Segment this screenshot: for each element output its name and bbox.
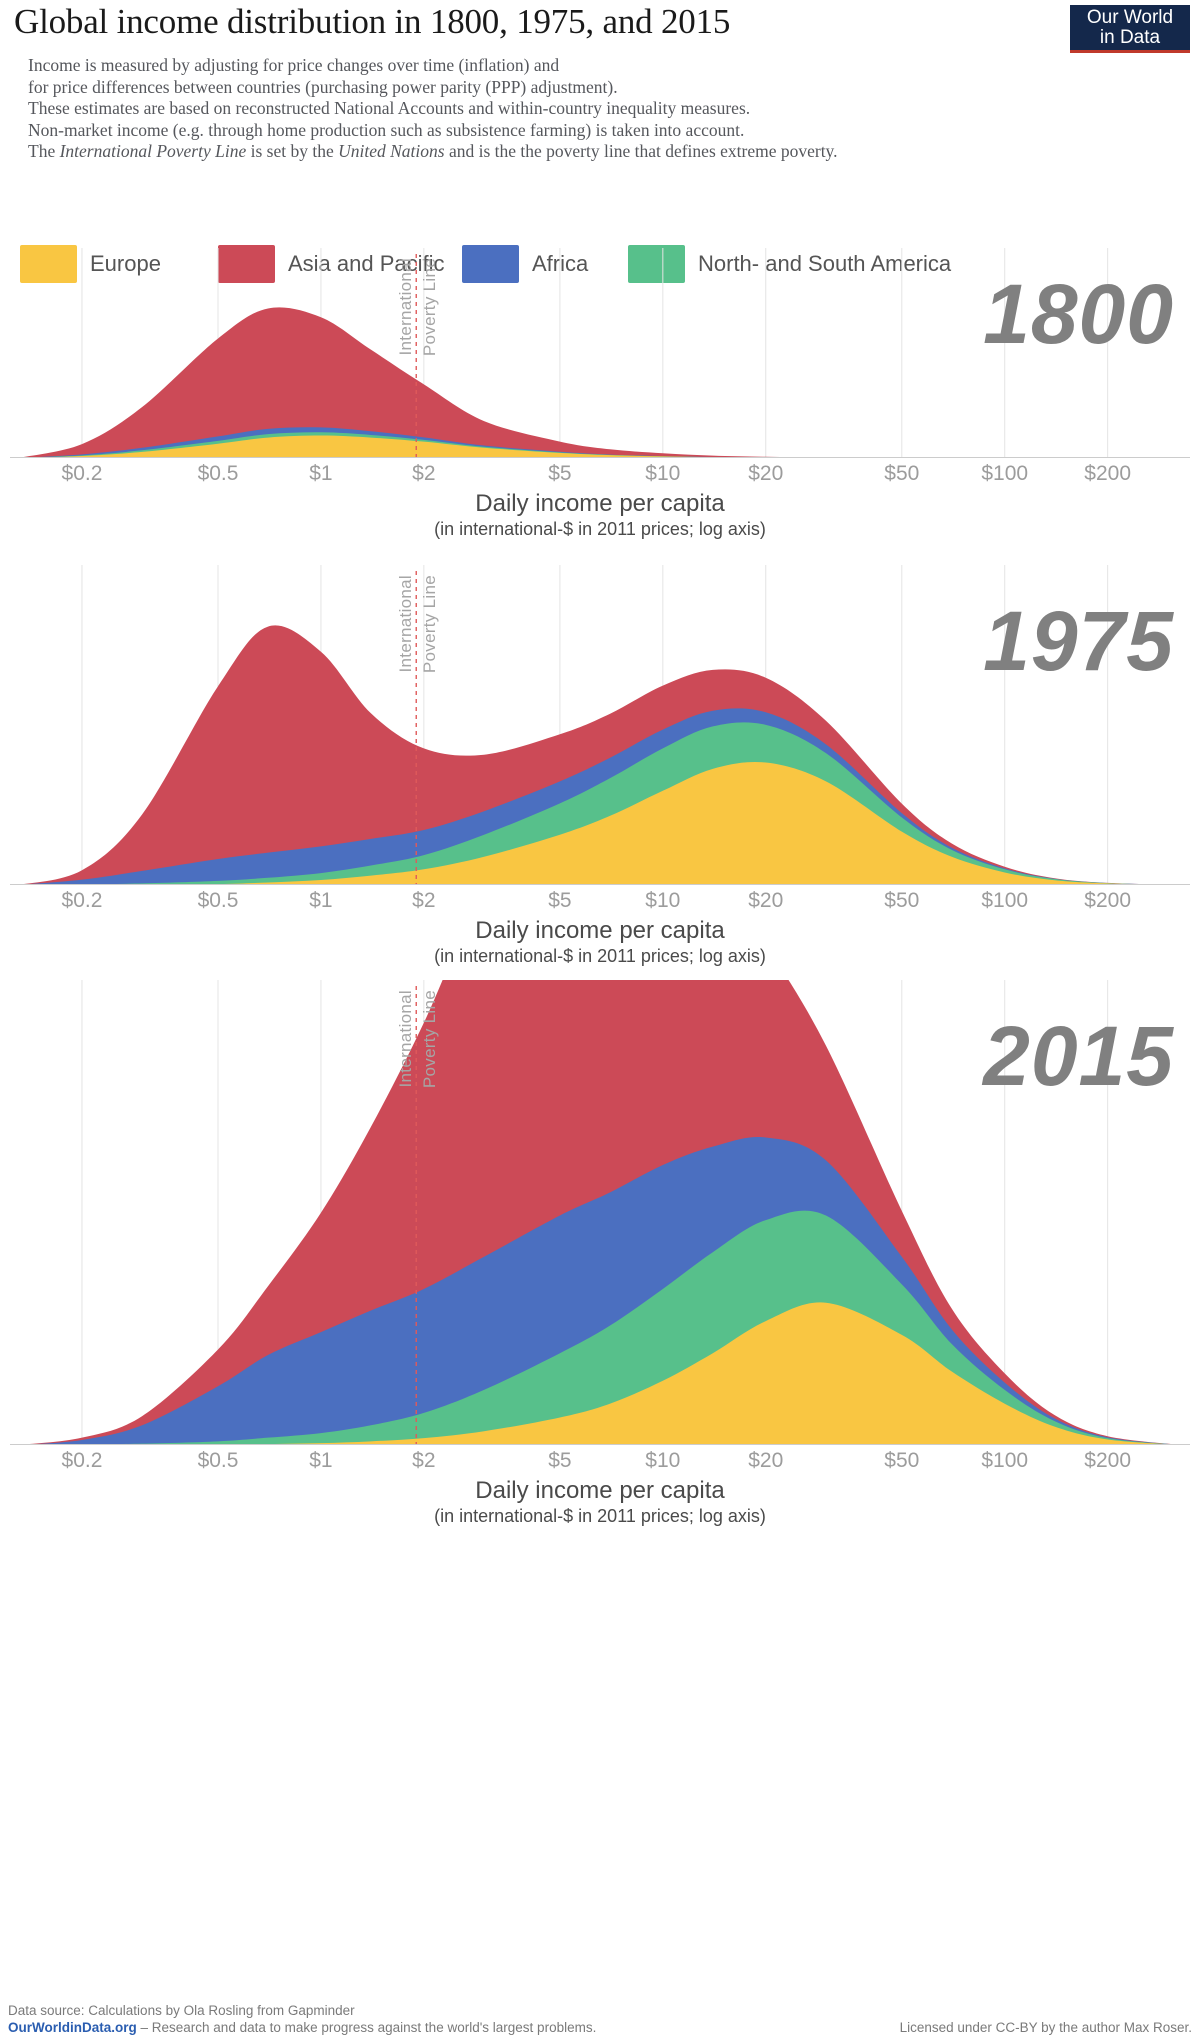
x-axis-title: Daily income per capita(in international… <box>0 917 1200 967</box>
owid-logo[interactable]: Our World in Data <box>1070 5 1190 53</box>
poverty-line-label-international: International <box>396 258 416 355</box>
chart-panel-2015: InternationalPoverty Line2015$0.2$0.5$1$… <box>0 980 1200 1527</box>
footer-license: Licensed under CC-BY by the author Max R… <box>900 2019 1192 2036</box>
x-axis-tick-1: $1 <box>309 1449 332 1473</box>
panel-year-label: 1800 <box>983 266 1174 363</box>
x-axis-tick-0.2: $0.2 <box>62 462 103 486</box>
poverty-line-label-poverty: Poverty Line <box>420 258 440 356</box>
subtitle-line-4: Non-market income (e.g. through home pro… <box>28 120 1190 142</box>
x-axis-tick-200: $200 <box>1084 1449 1131 1473</box>
x-axis-tick-20: $20 <box>748 889 783 913</box>
x-axis-title-sub: (in international-$ in 2011 prices; log … <box>0 1506 1200 1527</box>
page-title: Global income distribution in 1800, 1975… <box>14 4 730 41</box>
subtitle-line-5: The International Poverty Line is set by… <box>28 141 1190 163</box>
chart-panel-1800: InternationalPoverty Line1800$0.2$0.5$1$… <box>0 248 1200 540</box>
x-axis-tick-5: $5 <box>548 462 571 486</box>
page-footer: Data source: Calculations by Ola Rosling… <box>8 2002 1192 2036</box>
poverty-line-label-international: International <box>396 575 416 672</box>
chart-panel-1975: InternationalPoverty Line1975$0.2$0.5$1$… <box>0 565 1200 967</box>
x-axis-tick-20: $20 <box>748 1449 783 1473</box>
x-axis-tick-2: $2 <box>412 889 435 913</box>
x-axis-title-sub: (in international-$ in 2011 prices; log … <box>0 946 1200 967</box>
subtitle-5-part2: is set by the <box>246 141 338 161</box>
poverty-line-label-poverty: Poverty Line <box>420 990 440 1088</box>
x-axis-tick-2: $2 <box>412 462 435 486</box>
x-axis-title: Daily income per capita(in international… <box>0 1477 1200 1527</box>
subtitle-5-em2: United Nations <box>338 141 444 161</box>
x-axis-tick-0.5: $0.5 <box>198 1449 239 1473</box>
x-axis-tick-100: $100 <box>981 889 1028 913</box>
owid-site-link[interactable]: OurWorldinData.org <box>8 2020 137 2035</box>
x-axis-title-sub: (in international-$ in 2011 prices; log … <box>0 519 1200 540</box>
footer-bottom-row: OurWorldinData.org – Research and data t… <box>8 2019 1192 2036</box>
x-axis-title-main: Daily income per capita <box>0 490 1200 518</box>
x-axis-tick-200: $200 <box>1084 462 1131 486</box>
x-axis-tick-0.2: $0.2 <box>62 1449 103 1473</box>
x-axis-tick-10: $10 <box>645 462 680 486</box>
x-axis-title: Daily income per capita(in international… <box>0 490 1200 540</box>
subtitle-5-part3: and is the the poverty line that defines… <box>445 141 838 161</box>
footer-tagline: – Research and data to make progress aga… <box>137 2020 597 2035</box>
panel-year-label: 1975 <box>983 593 1174 690</box>
subtitle-5-part1: The <box>28 141 60 161</box>
x-axis-tick-20: $20 <box>748 462 783 486</box>
x-axis-tick-1: $1 <box>309 462 332 486</box>
x-axis-tick-5: $5 <box>548 889 571 913</box>
x-axis-tick-0.5: $0.5 <box>198 889 239 913</box>
x-axis-tick-50: $50 <box>884 1449 919 1473</box>
subtitle-5-em1: International Poverty Line <box>60 141 247 161</box>
subtitle-line-2: for price differences between countries … <box>28 77 1190 99</box>
x-axis-title-main: Daily income per capita <box>0 917 1200 945</box>
x-axis-tick-100: $100 <box>981 1449 1028 1473</box>
subtitle-line-1: Income is measured by adjusting for pric… <box>28 55 1190 77</box>
footer-left: OurWorldinData.org – Research and data t… <box>8 2019 596 2036</box>
x-axis-tick-100: $100 <box>981 462 1028 486</box>
page-header: Global income distribution in 1800, 1975… <box>0 0 1200 163</box>
subtitle-block: Income is measured by adjusting for pric… <box>28 55 1190 163</box>
x-axis-tick-200: $200 <box>1084 889 1131 913</box>
footer-source: Data source: Calculations by Ola Rosling… <box>8 2002 1192 2019</box>
x-axis-tick-5: $5 <box>548 1449 571 1473</box>
subtitle-line-3: These estimates are based on reconstruct… <box>28 98 1190 120</box>
x-axis-tick-2: $2 <box>412 1449 435 1473</box>
title-row: Global income distribution in 1800, 1975… <box>14 4 1190 53</box>
x-axis-title-main: Daily income per capita <box>0 1477 1200 1505</box>
owid-logo-line2: in Data <box>1078 28 1182 48</box>
x-axis-tick-10: $10 <box>645 1449 680 1473</box>
x-axis-tick-10: $10 <box>645 889 680 913</box>
x-axis-tick-1: $1 <box>309 889 332 913</box>
owid-logo-line1: Our World <box>1078 8 1182 28</box>
x-axis-tick-0.5: $0.5 <box>198 462 239 486</box>
poverty-line-label-international: International <box>396 990 416 1087</box>
x-axis-tick-50: $50 <box>884 462 919 486</box>
x-axis-tick-50: $50 <box>884 889 919 913</box>
panel-year-label: 2015 <box>983 1008 1174 1105</box>
poverty-line-label-poverty: Poverty Line <box>420 575 440 673</box>
x-axis-tick-0.2: $0.2 <box>62 889 103 913</box>
